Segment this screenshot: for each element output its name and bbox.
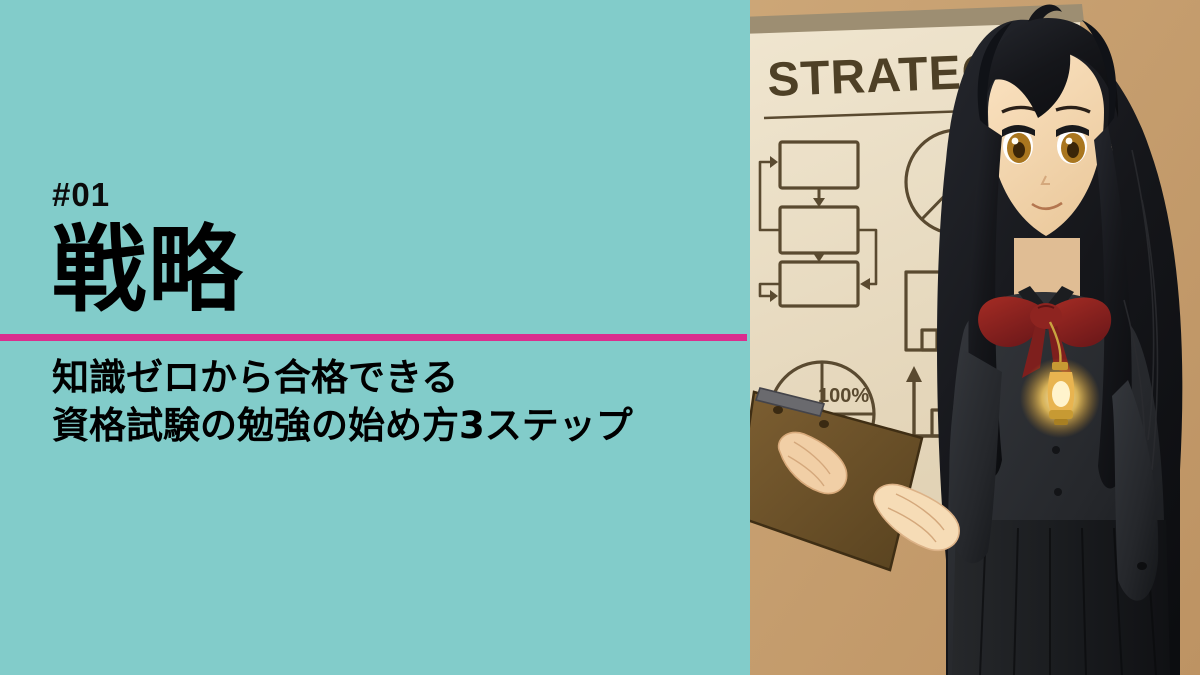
character-illustration: STRATEGY (750, 0, 1200, 675)
accent-divider (0, 334, 747, 341)
left-text-panel: #01 戦略 知識ゼロから合格できる 資格試験の勉強の始め方3ステップ (0, 0, 750, 675)
headline-group: #01 戦略 (52, 178, 712, 317)
slide-canvas: #01 戦略 知識ゼロから合格できる 資格試験の勉強の始め方3ステップ (0, 0, 1200, 675)
page-title: 戦略 (52, 225, 712, 317)
pie-chart-label: 100% (818, 385, 869, 407)
subtitle-line-1: 知識ゼロから合格できる (52, 354, 742, 402)
illustration-svg: STRATEGY (750, 0, 1200, 675)
cuff-button (1137, 562, 1147, 570)
episode-number: #01 (52, 178, 712, 211)
subtitle-group: 知識ゼロから合格できる 資格試験の勉強の始め方3ステップ (52, 354, 742, 450)
subtitle-line-2: 資格試験の勉強の始め方3ステップ (52, 402, 742, 450)
